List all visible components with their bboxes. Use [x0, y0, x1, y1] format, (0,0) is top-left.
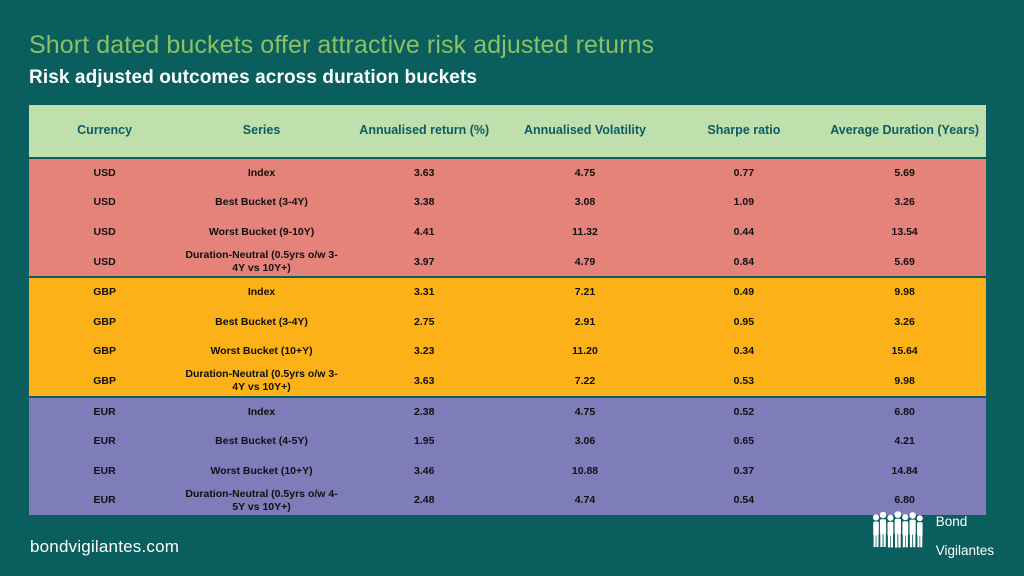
- cell-annualised-volatility: 7.22: [506, 367, 665, 397]
- cell-series: Worst Bucket (10+Y): [180, 456, 343, 486]
- cell-currency: USD: [29, 158, 180, 188]
- cell-annualised-return: 3.46: [343, 456, 506, 486]
- cell-series: Index: [180, 397, 343, 427]
- column-header-annualised-volatility: Annualised Volatility: [506, 105, 665, 158]
- table-row: GBPWorst Bucket (10+Y)3.2311.200.3415.64: [29, 337, 986, 367]
- cell-average-duration: 9.98: [823, 367, 986, 397]
- column-header-sharpe-ratio: Sharpe ratio: [664, 105, 823, 158]
- cell-annualised-return: 1.95: [343, 426, 506, 456]
- cell-sharpe-ratio: 0.52: [664, 397, 823, 427]
- table-body: USDIndex3.634.750.775.69USDBest Bucket (…: [29, 158, 986, 516]
- cell-annualised-volatility: 4.75: [506, 158, 665, 188]
- cell-annualised-return: 3.97: [343, 247, 506, 277]
- cell-average-duration: 5.69: [823, 247, 986, 277]
- cell-series: Duration-Neutral (0.5yrs o/w 3-4Y vs 10Y…: [180, 367, 343, 397]
- cell-average-duration: 15.64: [823, 337, 986, 367]
- cell-annualised-volatility: 10.88: [506, 456, 665, 486]
- table-row: USDBest Bucket (3-4Y)3.383.081.093.26: [29, 188, 986, 218]
- cell-annualised-volatility: 2.91: [506, 307, 665, 337]
- cell-annualised-return: 2.48: [343, 486, 506, 516]
- cell-average-duration: 14.84: [823, 456, 986, 486]
- cell-currency: EUR: [29, 397, 180, 427]
- table-row: EURWorst Bucket (10+Y)3.4610.880.3714.84: [29, 456, 986, 486]
- cell-annualised-return: 3.38: [343, 188, 506, 218]
- logo-wordmark: Bond Vigilantes: [936, 501, 994, 558]
- logo-line-1: Bond: [936, 514, 968, 529]
- column-header-annualised-return: Annualised return (%): [343, 105, 506, 158]
- table-row: EURIndex2.384.750.526.80: [29, 397, 986, 427]
- cell-annualised-volatility: 4.74: [506, 486, 665, 516]
- cell-series: Worst Bucket (9-10Y): [180, 218, 343, 248]
- cell-sharpe-ratio: 0.95: [664, 307, 823, 337]
- risk-metrics-table: Currency Series Annualised return (%) An…: [29, 105, 986, 517]
- footer-website-url[interactable]: bondvigilantes.com: [30, 537, 179, 557]
- cell-currency: EUR: [29, 456, 180, 486]
- logo-line-2: Vigilantes: [936, 543, 994, 558]
- cell-series: Best Bucket (3-4Y): [180, 188, 343, 218]
- column-header-average-duration: Average Duration (Years): [823, 105, 986, 158]
- cell-average-duration: 6.80: [823, 397, 986, 427]
- slide: Short dated buckets offer attractive ris…: [0, 0, 1024, 576]
- cell-annualised-volatility: 3.06: [506, 426, 665, 456]
- cell-average-duration: 9.98: [823, 277, 986, 307]
- cell-average-duration: 5.69: [823, 158, 986, 188]
- cell-sharpe-ratio: 0.44: [664, 218, 823, 248]
- page-subtitle: Risk adjusted outcomes across duration b…: [29, 67, 477, 89]
- cell-currency: EUR: [29, 426, 180, 456]
- page-title: Short dated buckets offer attractive ris…: [29, 31, 654, 60]
- cell-series: Worst Bucket (10+Y): [180, 337, 343, 367]
- cell-series: Best Bucket (3-4Y): [180, 307, 343, 337]
- cell-average-duration: 3.26: [823, 307, 986, 337]
- cell-annualised-return: 3.23: [343, 337, 506, 367]
- metrics-table: Currency Series Annualised return (%) An…: [29, 105, 986, 517]
- table-row: EURBest Bucket (4-5Y)1.953.060.654.21: [29, 426, 986, 456]
- cell-annualised-volatility: 4.79: [506, 247, 665, 277]
- cell-average-duration: 4.21: [823, 426, 986, 456]
- cell-annualised-return: 2.38: [343, 397, 506, 427]
- cell-annualised-return: 3.63: [343, 158, 506, 188]
- bond-vigilantes-logo[interactable]: Bond Vigilantes: [871, 501, 994, 558]
- table-row: USDIndex3.634.750.775.69: [29, 158, 986, 188]
- cell-annualised-return: 3.63: [343, 367, 506, 397]
- cell-sharpe-ratio: 0.84: [664, 247, 823, 277]
- cell-sharpe-ratio: 0.53: [664, 367, 823, 397]
- table-header-row: Currency Series Annualised return (%) An…: [29, 105, 986, 158]
- column-header-currency: Currency: [29, 105, 180, 158]
- cell-sharpe-ratio: 0.34: [664, 337, 823, 367]
- cell-currency: GBP: [29, 277, 180, 307]
- cell-currency: EUR: [29, 486, 180, 516]
- cell-annualised-volatility: 4.75: [506, 397, 665, 427]
- cell-annualised-return: 3.31: [343, 277, 506, 307]
- cell-currency: USD: [29, 247, 180, 277]
- cell-sharpe-ratio: 0.65: [664, 426, 823, 456]
- cell-annualised-volatility: 11.20: [506, 337, 665, 367]
- cell-average-duration: 13.54: [823, 218, 986, 248]
- table-row: GBPBest Bucket (3-4Y)2.752.910.953.26: [29, 307, 986, 337]
- cell-currency: GBP: [29, 337, 180, 367]
- cell-sharpe-ratio: 0.49: [664, 277, 823, 307]
- crowd-figures-icon: [871, 509, 929, 549]
- cell-sharpe-ratio: 0.54: [664, 486, 823, 516]
- cell-annualised-volatility: 11.32: [506, 218, 665, 248]
- cell-series: Index: [180, 277, 343, 307]
- cell-annualised-volatility: 7.21: [506, 277, 665, 307]
- cell-series: Duration-Neutral (0.5yrs o/w 3-4Y vs 10Y…: [180, 247, 343, 277]
- table-row: USDDuration-Neutral (0.5yrs o/w 3-4Y vs …: [29, 247, 986, 277]
- column-header-series: Series: [180, 105, 343, 158]
- cell-annualised-volatility: 3.08: [506, 188, 665, 218]
- cell-currency: GBP: [29, 307, 180, 337]
- cell-series: Duration-Neutral (0.5yrs o/w 4-5Y vs 10Y…: [180, 486, 343, 516]
- table-row: USDWorst Bucket (9-10Y)4.4111.320.4413.5…: [29, 218, 986, 248]
- cell-currency: USD: [29, 218, 180, 248]
- cell-series: Index: [180, 158, 343, 188]
- cell-currency: GBP: [29, 367, 180, 397]
- table-header: Currency Series Annualised return (%) An…: [29, 105, 986, 158]
- table-row: GBPIndex3.317.210.499.98: [29, 277, 986, 307]
- cell-average-duration: 3.26: [823, 188, 986, 218]
- cell-series: Best Bucket (4-5Y): [180, 426, 343, 456]
- cell-currency: USD: [29, 188, 180, 218]
- table-row: GBPDuration-Neutral (0.5yrs o/w 3-4Y vs …: [29, 367, 986, 397]
- cell-sharpe-ratio: 0.37: [664, 456, 823, 486]
- cell-sharpe-ratio: 0.77: [664, 158, 823, 188]
- cell-annualised-return: 2.75: [343, 307, 506, 337]
- cell-sharpe-ratio: 1.09: [664, 188, 823, 218]
- table-row: EURDuration-Neutral (0.5yrs o/w 4-5Y vs …: [29, 486, 986, 516]
- cell-annualised-return: 4.41: [343, 218, 506, 248]
